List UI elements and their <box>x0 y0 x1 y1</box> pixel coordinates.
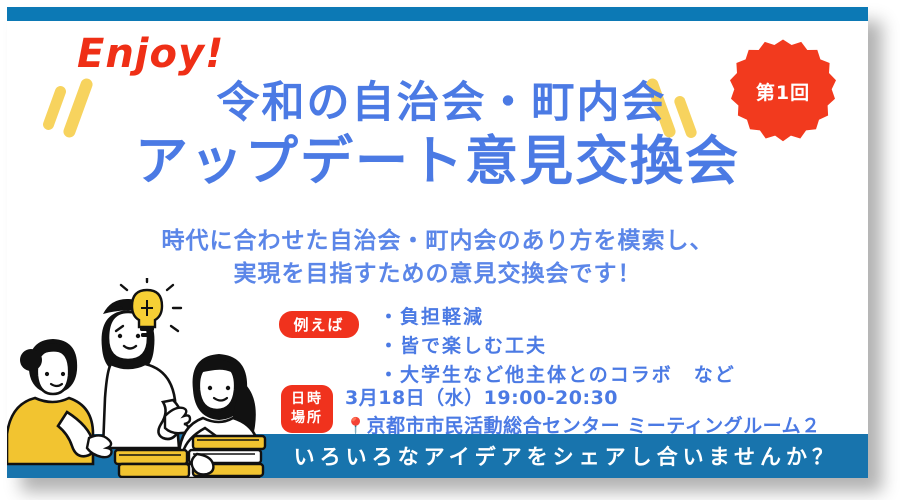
top-blue-rule <box>7 7 868 21</box>
bottom-banner-text: いろいろなアイデアをシェアし合いませんか？ <box>294 441 838 471</box>
eyebrow-enjoy: Enjoy! <box>77 31 224 77</box>
three-people-idea-lightbulb-books-illustration <box>7 278 292 478</box>
edition-badge-label: 第1回 <box>729 37 837 145</box>
schedule-datetime: 3月18日（水）19:00-20:30 <box>345 385 821 413</box>
schedule-pill-line-2: 場所 <box>291 409 323 428</box>
list-item: ・負担軽減 <box>379 303 736 332</box>
schedule-pill-line-1: 日時 <box>291 390 323 409</box>
poster-canvas: Enjoy! 令和の自治会・町内会 アップデート意見交換会 時代に合わせた自治会… <box>0 0 900 500</box>
edition-badge: 第1回 <box>729 37 837 145</box>
list-item: ・皆で楽しむ工夫 <box>379 332 736 361</box>
example-list: ・負担軽減 ・皆で楽しむ工夫 ・大学生など他主体とのコラボ など <box>379 303 736 390</box>
schedule-details: 3月18日（水）19:00-20:30 📍京都市市民活動総合センター ミーティン… <box>345 385 821 440</box>
poster-card: Enjoy! 令和の自治会・町内会 アップデート意見交換会 時代に合わせた自治会… <box>7 7 868 478</box>
subtitle-line-1: 時代に合わせた自治会・町内会のあり方を模索し、 <box>7 225 868 258</box>
